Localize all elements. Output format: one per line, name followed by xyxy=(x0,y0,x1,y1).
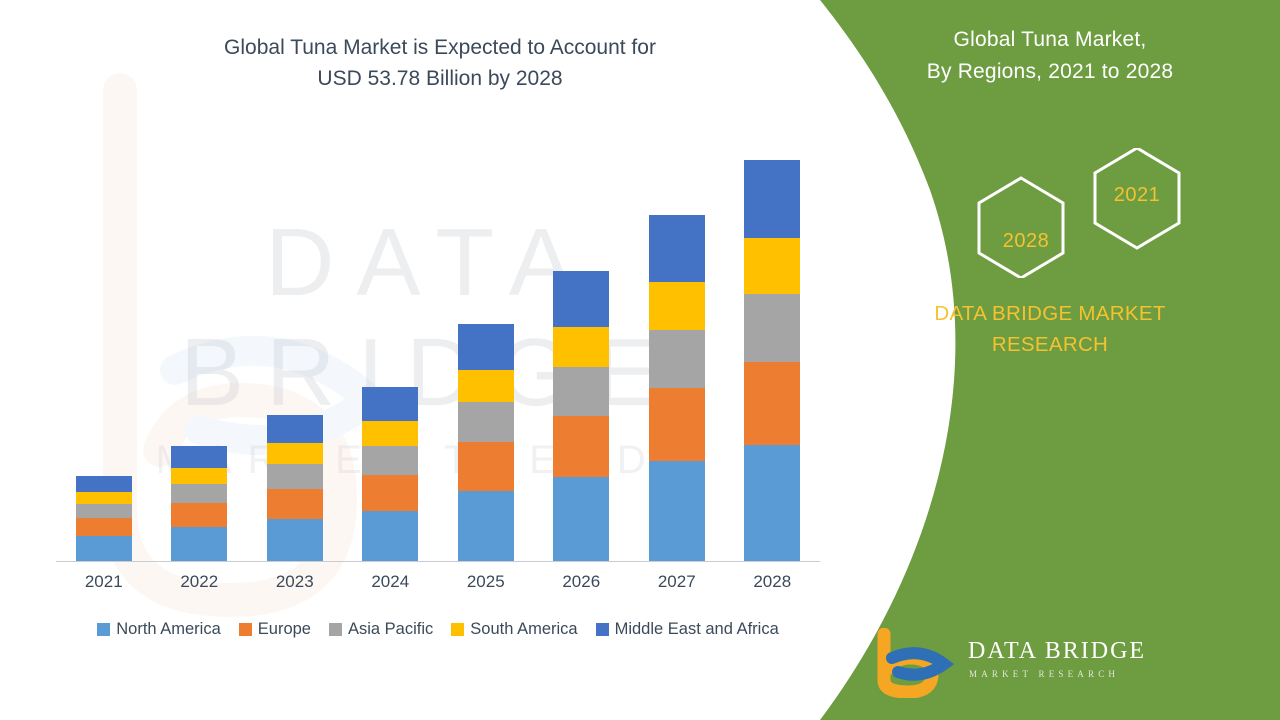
bar-segment xyxy=(744,445,800,562)
hexagon-back-icon xyxy=(979,178,1063,278)
x-axis-label-2027: 2027 xyxy=(629,572,725,592)
hexagon-icons xyxy=(966,148,1196,278)
legend-label: South America xyxy=(470,620,577,639)
legend-swatch-icon xyxy=(451,623,464,636)
right-panel-content: Global Tuna Market, By Regions, 2021 to … xyxy=(820,0,1280,720)
bar-segment xyxy=(744,238,800,294)
x-axis-label-2028: 2028 xyxy=(724,572,820,592)
bar-segment xyxy=(458,324,514,369)
bar-segment xyxy=(362,475,418,511)
legend-label: Europe xyxy=(258,620,311,639)
bar-group-2021 xyxy=(76,476,132,562)
bar-segment xyxy=(362,446,418,475)
brand-name-line-2: RESEARCH xyxy=(992,333,1108,356)
legend-label: North America xyxy=(116,620,221,639)
hexagon-group: 2021 2028 xyxy=(966,148,1196,278)
data-bridge-logo-icon xyxy=(868,628,960,698)
x-axis-label-2025: 2025 xyxy=(438,572,534,592)
legend-label: Middle East and Africa xyxy=(615,620,779,639)
bar-segment xyxy=(362,387,418,421)
bar-segment xyxy=(267,519,323,562)
hexagon-front-label: 2021 xyxy=(1097,184,1177,207)
logo-block: DATA BRIDGE MARKET RESEARCH xyxy=(868,628,1228,700)
legend-item[interactable]: South America xyxy=(451,620,577,639)
bar-segment xyxy=(267,415,323,443)
bar-segment xyxy=(362,421,418,445)
chart-title-line-1: Global Tuna Market is Expected to Accoun… xyxy=(224,36,656,59)
bar-group-2026 xyxy=(553,271,609,562)
bar-segment xyxy=(744,160,800,238)
bar-segment xyxy=(649,388,705,460)
bar-segment xyxy=(458,370,514,403)
panel-title-line-2: By Regions, 2021 to 2028 xyxy=(820,56,1280,88)
chart-area: DATA BRIDGE MARKET TRENDS Global Tuna Ma… xyxy=(0,0,860,720)
stacked-bar-plot xyxy=(56,150,820,562)
brand-name: DATA BRIDGE MARKET RESEARCH xyxy=(820,298,1280,360)
bar-segment xyxy=(171,484,227,503)
logo-text: DATA BRIDGE xyxy=(968,638,1146,665)
bar-segment xyxy=(744,294,800,362)
legend-swatch-icon xyxy=(97,623,110,636)
x-axis-label-2024: 2024 xyxy=(342,572,438,592)
bar-group-2025 xyxy=(458,324,514,562)
bar-segment xyxy=(76,476,132,492)
legend-item[interactable]: Middle East and Africa xyxy=(596,620,779,639)
bar-segment xyxy=(76,536,132,562)
x-axis-label-2026: 2026 xyxy=(533,572,629,592)
bar-segment xyxy=(171,527,227,562)
bar-segment xyxy=(553,367,609,416)
bar-segment xyxy=(649,330,705,388)
x-axis-label-2021: 2021 xyxy=(56,572,152,592)
bar-group-2024 xyxy=(362,387,418,562)
legend-item[interactable]: Europe xyxy=(239,620,311,639)
x-axis-label-2022: 2022 xyxy=(151,572,247,592)
bar-segment xyxy=(649,461,705,562)
bar-group-2028 xyxy=(744,160,800,562)
legend-swatch-icon xyxy=(239,623,252,636)
bar-segment xyxy=(458,442,514,491)
bar-group-2027 xyxy=(649,215,705,562)
right-panel: Global Tuna Market, By Regions, 2021 to … xyxy=(820,0,1280,720)
legend-swatch-icon xyxy=(329,623,342,636)
bar-segment xyxy=(76,518,132,537)
bar-group-2022 xyxy=(171,446,227,563)
legend-label: Asia Pacific xyxy=(348,620,433,639)
bar-segment xyxy=(362,511,418,562)
bar-segment xyxy=(267,464,323,488)
brand-name-line-1: DATA BRIDGE MARKET xyxy=(934,302,1165,325)
bar-segment xyxy=(649,282,705,330)
bar-segment xyxy=(744,362,800,446)
x-axis-labels: 20212022202320242025202620272028 xyxy=(56,572,820,600)
bar-segment xyxy=(553,327,609,368)
bar-segment xyxy=(76,504,132,518)
bar-segment xyxy=(171,503,227,527)
legend-item[interactable]: Asia Pacific xyxy=(329,620,433,639)
chart-legend: North AmericaEuropeAsia PacificSouth Ame… xyxy=(56,616,820,642)
bar-segment xyxy=(458,402,514,442)
bar-segment xyxy=(76,492,132,504)
infographic-page: DATA BRIDGE MARKET TRENDS Global Tuna Ma… xyxy=(0,0,1280,720)
legend-item[interactable]: North America xyxy=(97,620,221,639)
bar-segment xyxy=(267,489,323,519)
x-axis-label-2023: 2023 xyxy=(247,572,343,592)
bar-segment xyxy=(649,215,705,283)
bar-segment xyxy=(553,477,609,562)
hexagon-back-label: 2028 xyxy=(986,230,1066,253)
bar-segment xyxy=(171,468,227,484)
bar-segment xyxy=(458,491,514,562)
chart-title-line-2: USD 53.78 Billion by 2028 xyxy=(60,63,820,94)
panel-title-line-1: Global Tuna Market, xyxy=(954,28,1147,51)
bar-segment xyxy=(553,416,609,477)
x-axis-line xyxy=(56,561,820,562)
panel-title: Global Tuna Market, By Regions, 2021 to … xyxy=(820,24,1280,88)
bar-group-2023 xyxy=(267,415,323,562)
bar-segment xyxy=(553,271,609,327)
legend-swatch-icon xyxy=(596,623,609,636)
bar-segment xyxy=(267,443,323,464)
bar-segment xyxy=(171,446,227,468)
logo-subtext: MARKET RESEARCH xyxy=(969,669,1119,679)
chart-title: Global Tuna Market is Expected to Accoun… xyxy=(60,32,820,94)
